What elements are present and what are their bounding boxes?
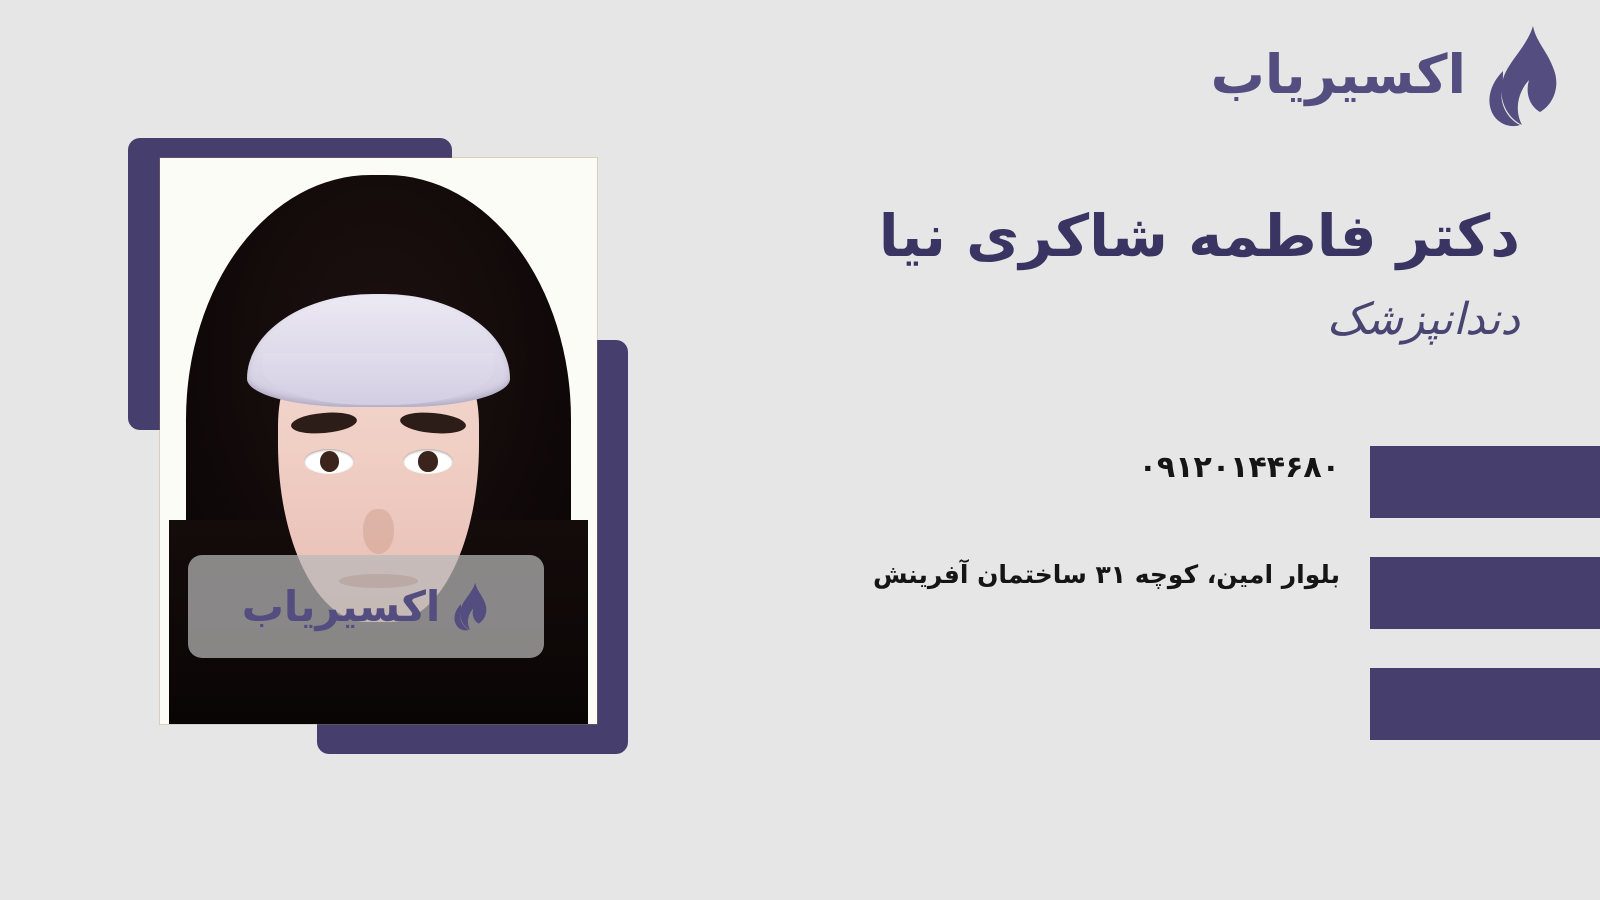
doctor-specialty: دندانپزشک — [780, 291, 1520, 348]
portrait-pupil-right — [418, 451, 437, 471]
flame-droplet-icon — [1480, 26, 1564, 128]
decor-bar-1 — [1370, 446, 1600, 518]
brand-logo[interactable]: اکسیریاب — [1211, 26, 1564, 128]
watermark-badge: اکسیریاب — [188, 555, 544, 658]
watermark-flame-droplet-icon — [450, 581, 490, 633]
doctor-address: بلوار امین، کوچه ۳۱ ساختمان آفرینش — [873, 560, 1340, 589]
photo-composition: اکسیریاب — [128, 138, 630, 754]
portrait-nose — [363, 509, 394, 554]
decor-bar-3 — [1370, 668, 1600, 740]
doctor-photo: اکسیریاب — [160, 158, 597, 724]
watermark-brand-name: اکسیریاب — [242, 586, 441, 628]
doctor-name: دکتر فاطمه شاکری نیا — [780, 200, 1520, 273]
doctor-profile-card: اکسیریاب — [0, 0, 1600, 900]
decor-bar-2 — [1370, 557, 1600, 629]
doctor-info: دکتر فاطمه شاکری نیا دندانپزشک ۰۹۱۲۰۱۴۴۶… — [780, 200, 1520, 348]
brand-name: اکسیریاب — [1211, 48, 1466, 106]
portrait-pupil-left — [320, 451, 339, 471]
doctor-phone[interactable]: ۰۹۱۲۰۱۴۴۶۸۰ — [1139, 450, 1340, 485]
